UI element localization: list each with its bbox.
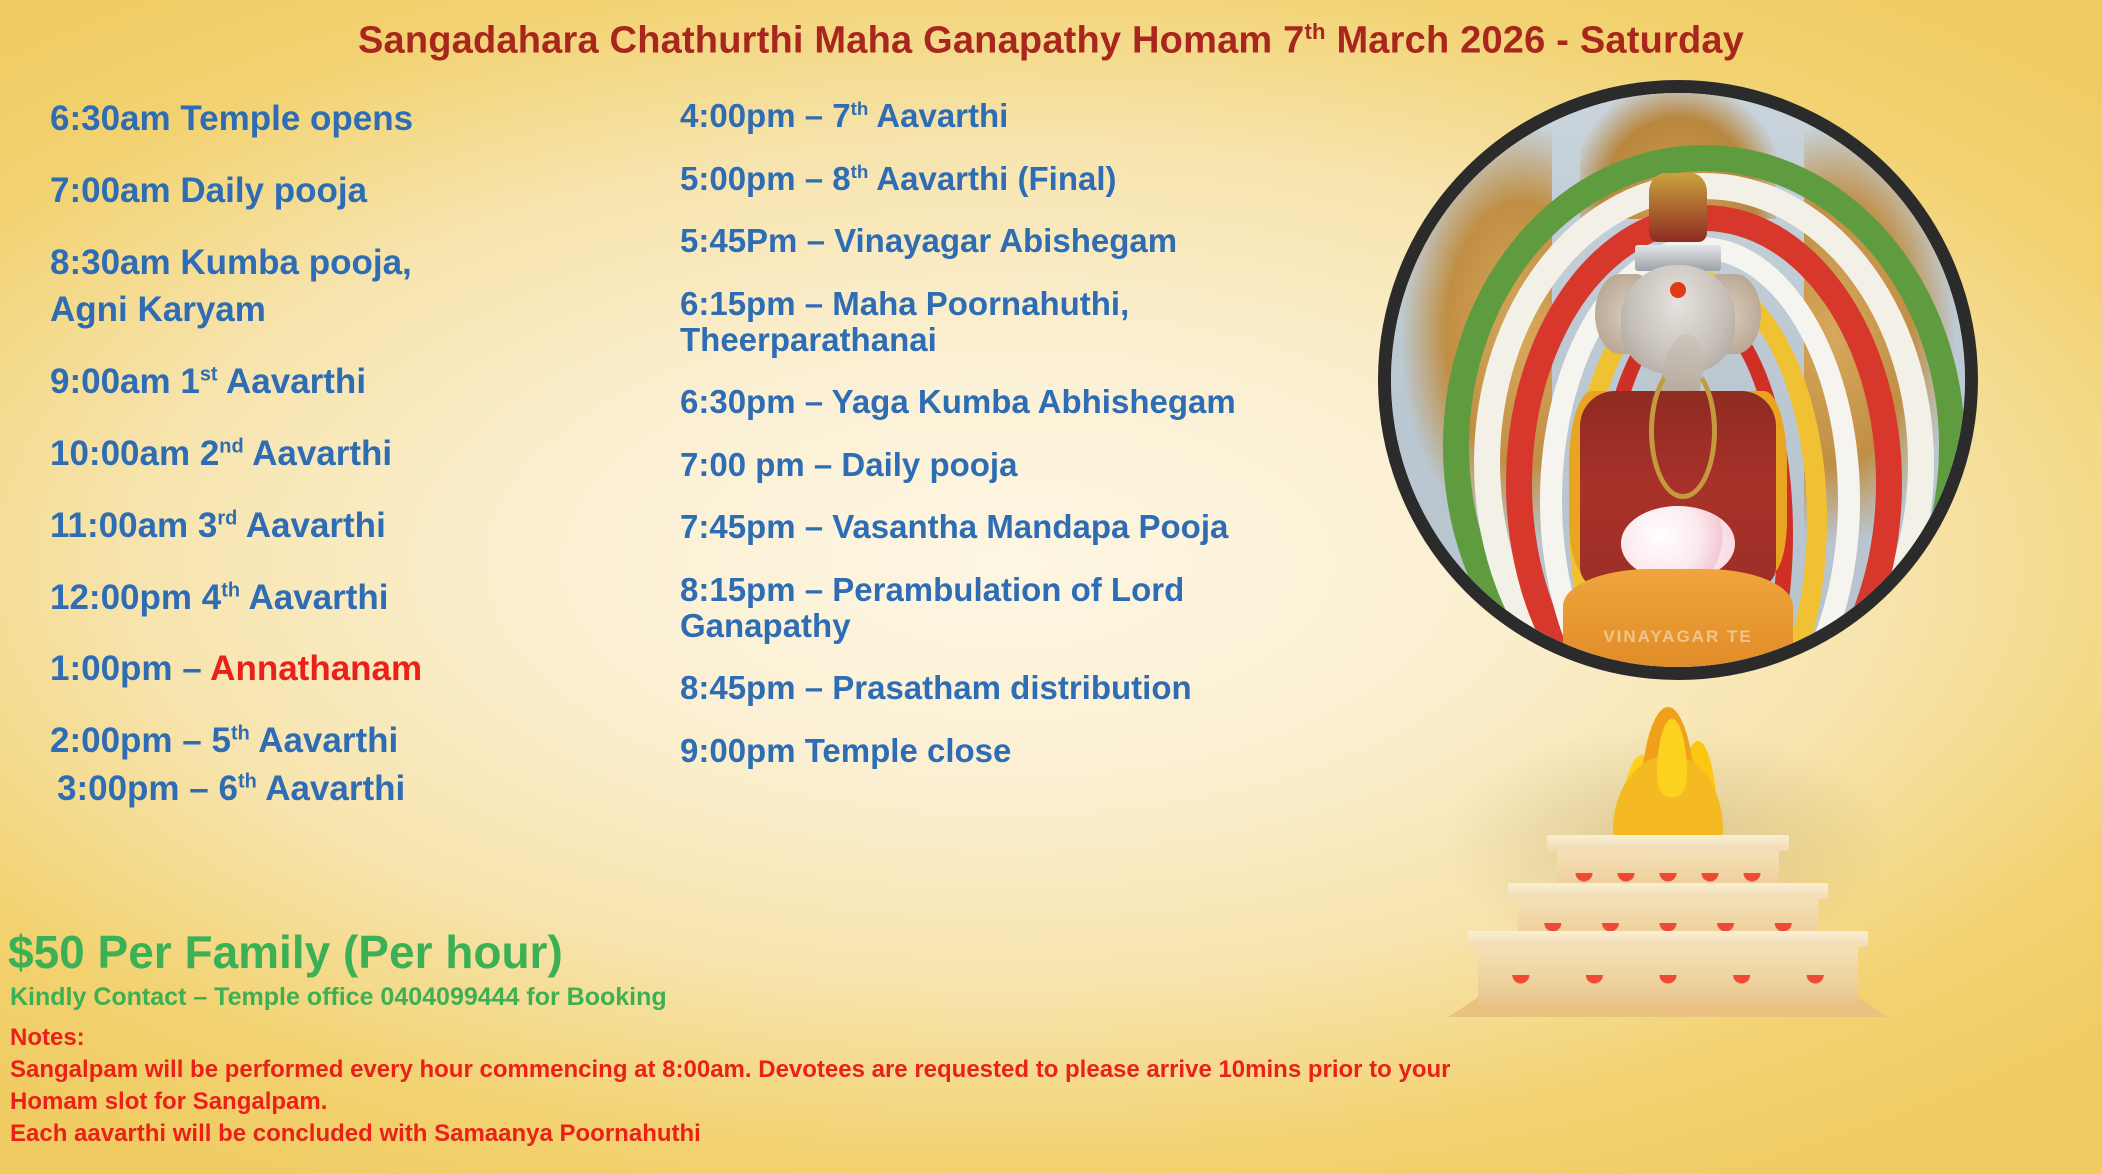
schedule-item: 10:00am 2nd Aavarthi <box>50 435 530 473</box>
schedule-item: 9:00pm Temple close <box>680 733 1340 769</box>
schedule-item-label: Aavarthi <box>868 97 1008 134</box>
ordinal-suffix: th <box>231 723 250 745</box>
deity-photo-frame: VINAYAGAR TE <box>1378 80 1978 680</box>
schedule-item: 7:45pm – Vasantha Mandapa Pooja <box>680 509 1340 545</box>
ordinal-suffix: rd <box>217 507 237 529</box>
poster-canvas: Sangadahara Chathurthi Maha Ganapathy Ho… <box>0 0 2102 1174</box>
schedule-item-label: 7:00 pm – Daily pooja <box>680 446 1017 483</box>
schedule-item-label: Aavarthi (Final) <box>868 160 1116 197</box>
kundam-tier-cap <box>1508 883 1828 899</box>
schedule-item-time: 11:00am 3 <box>50 506 217 545</box>
kundam-tier-top <box>1478 943 1858 1005</box>
title-ordinal-suffix: th <box>1304 19 1325 44</box>
schedule-item-label: 9:00pm Temple close <box>680 732 1011 769</box>
schedule-item-label: 6:30pm – Yaga Kumba Abhishegam <box>680 383 1236 420</box>
homa-kundam-fire-altar <box>1408 705 1928 1025</box>
schedule-item-time: 3:00pm – 6 <box>57 769 238 808</box>
schedule-item-time: 1:00pm – <box>50 649 210 688</box>
schedule-column-morning: 6:30am Temple opens 7:00am Daily pooja 8… <box>50 100 530 826</box>
deity-crown <box>1649 173 1706 242</box>
schedule-item-time: 9:00am 1 <box>50 362 200 401</box>
schedule-item: 5:00pm – 8th Aavarthi (Final) <box>680 161 1340 197</box>
schedule-item: 5:45Pm – Vinayagar Abishegam <box>680 223 1340 259</box>
schedule-item: 8:30am Kumba pooja, <box>50 244 530 282</box>
schedule-item-label: 7:45pm – Vasantha Mandapa Pooja <box>680 508 1228 545</box>
notes-line-2: Homam slot for Sangalpam. <box>10 1086 2082 1118</box>
schedule-column-evening: 4:00pm – 7th Aavarthi 5:00pm – 8th Aavar… <box>680 98 1340 796</box>
schedule-item-label-highlight: Annathanam <box>210 649 422 688</box>
photo-watermark: VINAYAGAR TE <box>1391 627 1965 647</box>
schedule-item-label: Aavarthi <box>240 578 388 617</box>
schedule-item-time: 2:00pm – 5 <box>50 721 231 760</box>
ordinal-suffix: nd <box>219 435 243 457</box>
schedule-item: 6:15pm – Maha Poornahuthi, Theerparathan… <box>680 286 1340 357</box>
page-title: Sangadahara Chathurthi Maha Ganapathy Ho… <box>0 19 2102 63</box>
schedule-item-time: 5:00pm – 8 <box>680 160 851 197</box>
schedule-item: 11:00am 3rd Aavarthi <box>50 507 530 545</box>
schedule-item: 6:30pm – Yaga Kumba Abhishegam <box>680 384 1340 420</box>
schedule-item-continuation: Agni Karyam <box>50 291 530 329</box>
schedule-item-label: 8:15pm – Perambulation of Lord Ganapathy <box>680 571 1184 644</box>
schedule-item-label: 6:15pm – Maha Poornahuthi, Theerparathan… <box>680 285 1129 358</box>
schedule-item: 4:00pm – 7th Aavarthi <box>680 98 1340 134</box>
notes-block: Notes: Sangalpam will be performed every… <box>10 1022 2082 1151</box>
schedule-item-time: 10:00am 2 <box>50 434 219 473</box>
schedule-item: 6:30am Temple opens <box>50 100 530 138</box>
schedule-item: 7:00am Daily pooja <box>50 172 530 210</box>
ordinal-suffix: st <box>200 364 218 386</box>
notes-heading: Notes: <box>10 1022 2082 1054</box>
deity-bead-garland <box>1649 363 1716 499</box>
schedule-item-label: 7:00am Daily pooja <box>50 171 367 210</box>
notes-line-3: Each aavarthi will be concluded with Sam… <box>10 1118 2082 1150</box>
schedule-item-label: 8:30am Kumba pooja, <box>50 243 412 282</box>
schedule-item-label: Aavarthi <box>237 506 385 545</box>
schedule-item-label: Aavarthi <box>257 769 405 808</box>
price-label: $50 Per Family (Per hour) <box>8 925 563 979</box>
schedule-item: 2:00pm – 5th Aavarthi <box>50 722 530 760</box>
schedule-item: 8:15pm – Perambulation of Lord Ganapathy <box>680 572 1340 643</box>
ganesha-deity-photo: VINAYAGAR TE <box>1378 80 1978 680</box>
contact-label: Kindly Contact – Temple office 040409944… <box>10 983 667 1012</box>
schedule-item-label: 8:45pm – Prasatham distribution <box>680 669 1192 706</box>
schedule-item-annathanam: 1:00pm – Annathanam <box>50 650 530 688</box>
schedule-item-label: Aavarthi <box>250 721 398 760</box>
schedule-item-label: Aavarthi <box>218 362 366 401</box>
title-text-post: March 2026 - Saturday <box>1326 20 1744 62</box>
title-text-pre: Sangadahara Chathurthi Maha Ganapathy Ho… <box>358 20 1305 62</box>
schedule-item-time: 4:00pm – 7 <box>680 97 851 134</box>
schedule-item-label: 6:30am Temple opens <box>50 99 413 138</box>
schedule-item-time: 12:00pm 4 <box>50 578 221 617</box>
schedule-item: 12:00pm 4th Aavarthi <box>50 579 530 617</box>
ordinal-suffix: th <box>238 770 257 792</box>
schedule-item-label: Agni Karyam <box>50 290 266 329</box>
schedule-item-label: 5:45Pm – Vinayagar Abishegam <box>680 222 1177 259</box>
notes-line-1: Sangalpam will be performed every hour c… <box>10 1054 2082 1086</box>
kundam-tier-cap <box>1547 835 1789 851</box>
schedule-item: 9:00am 1st Aavarthi <box>50 363 530 401</box>
schedule-item: 8:45pm – Prasatham distribution <box>680 670 1340 706</box>
schedule-item-label: Aavarthi <box>244 434 392 473</box>
schedule-item: 7:00 pm – Daily pooja <box>680 447 1340 483</box>
ordinal-suffix: th <box>851 161 869 182</box>
deity-dhoti <box>1563 569 1793 667</box>
kundam-tier-cap <box>1468 931 1868 947</box>
ordinal-suffix: th <box>851 98 869 119</box>
schedule-item: 3:00pm – 6th Aavarthi <box>57 770 530 808</box>
ordinal-suffix: th <box>221 579 240 601</box>
kundam-tier-decoration <box>1484 975 1852 1001</box>
